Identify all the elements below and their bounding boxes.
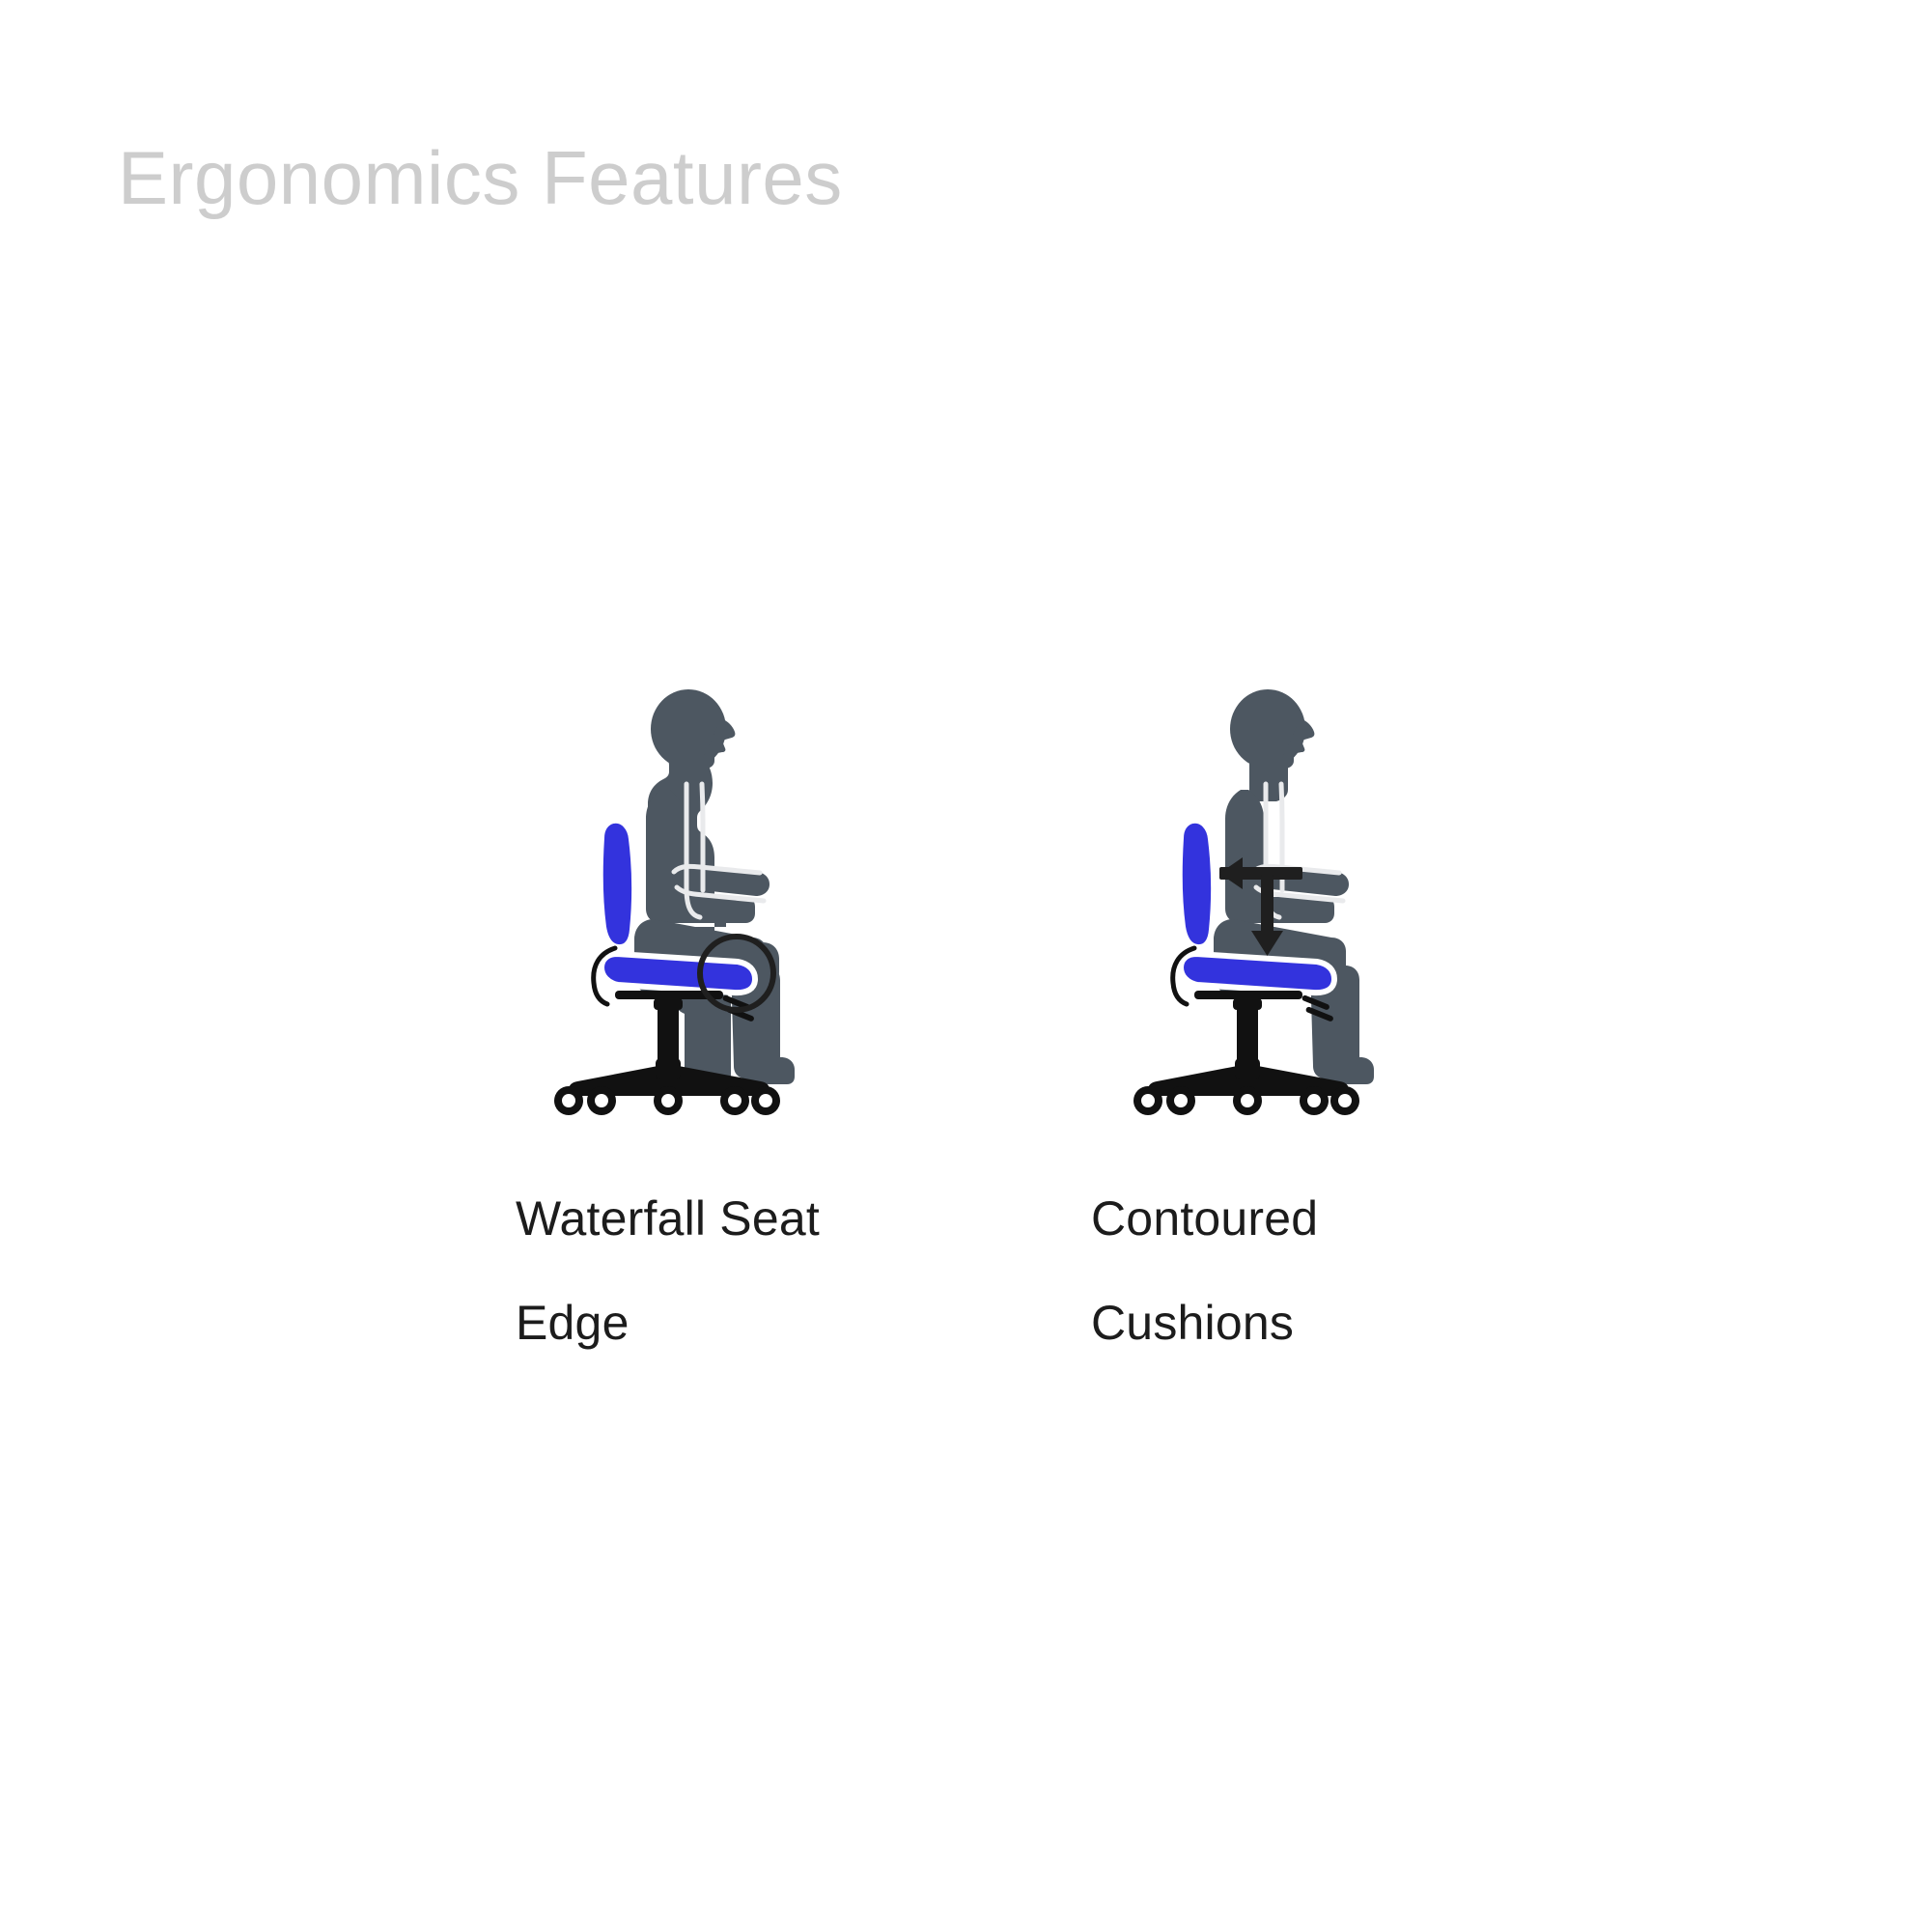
contoured-cushions-illustration xyxy=(1125,676,1443,1120)
feature-label-waterfall-seat-edge: Waterfall Seat Edge xyxy=(508,1166,902,1375)
feature-card-waterfall-seat-edge[interactable]: Waterfall Seat Edge xyxy=(502,676,908,1375)
chair-backrest xyxy=(1180,821,1214,947)
slide-canvas: Ergonomics Features xyxy=(0,0,1931,1932)
chair-seat-cushion xyxy=(602,954,755,993)
page-title: Ergonomics Features xyxy=(118,131,843,224)
chair-seat-cushion xyxy=(1181,954,1334,993)
seat-plate xyxy=(1194,991,1302,999)
chair-backrest xyxy=(601,821,634,947)
base-hub xyxy=(656,1058,681,1079)
feature-card-contoured-cushions[interactable]: Contoured Cushions xyxy=(1081,676,1487,1375)
feature-label-contoured-cushions: Contoured Cushions xyxy=(1091,1166,1477,1375)
waterfall-seat-edge-illustration xyxy=(546,676,864,1120)
features-row: Waterfall Seat Edge xyxy=(0,676,1931,1375)
base-hub xyxy=(1235,1058,1260,1079)
